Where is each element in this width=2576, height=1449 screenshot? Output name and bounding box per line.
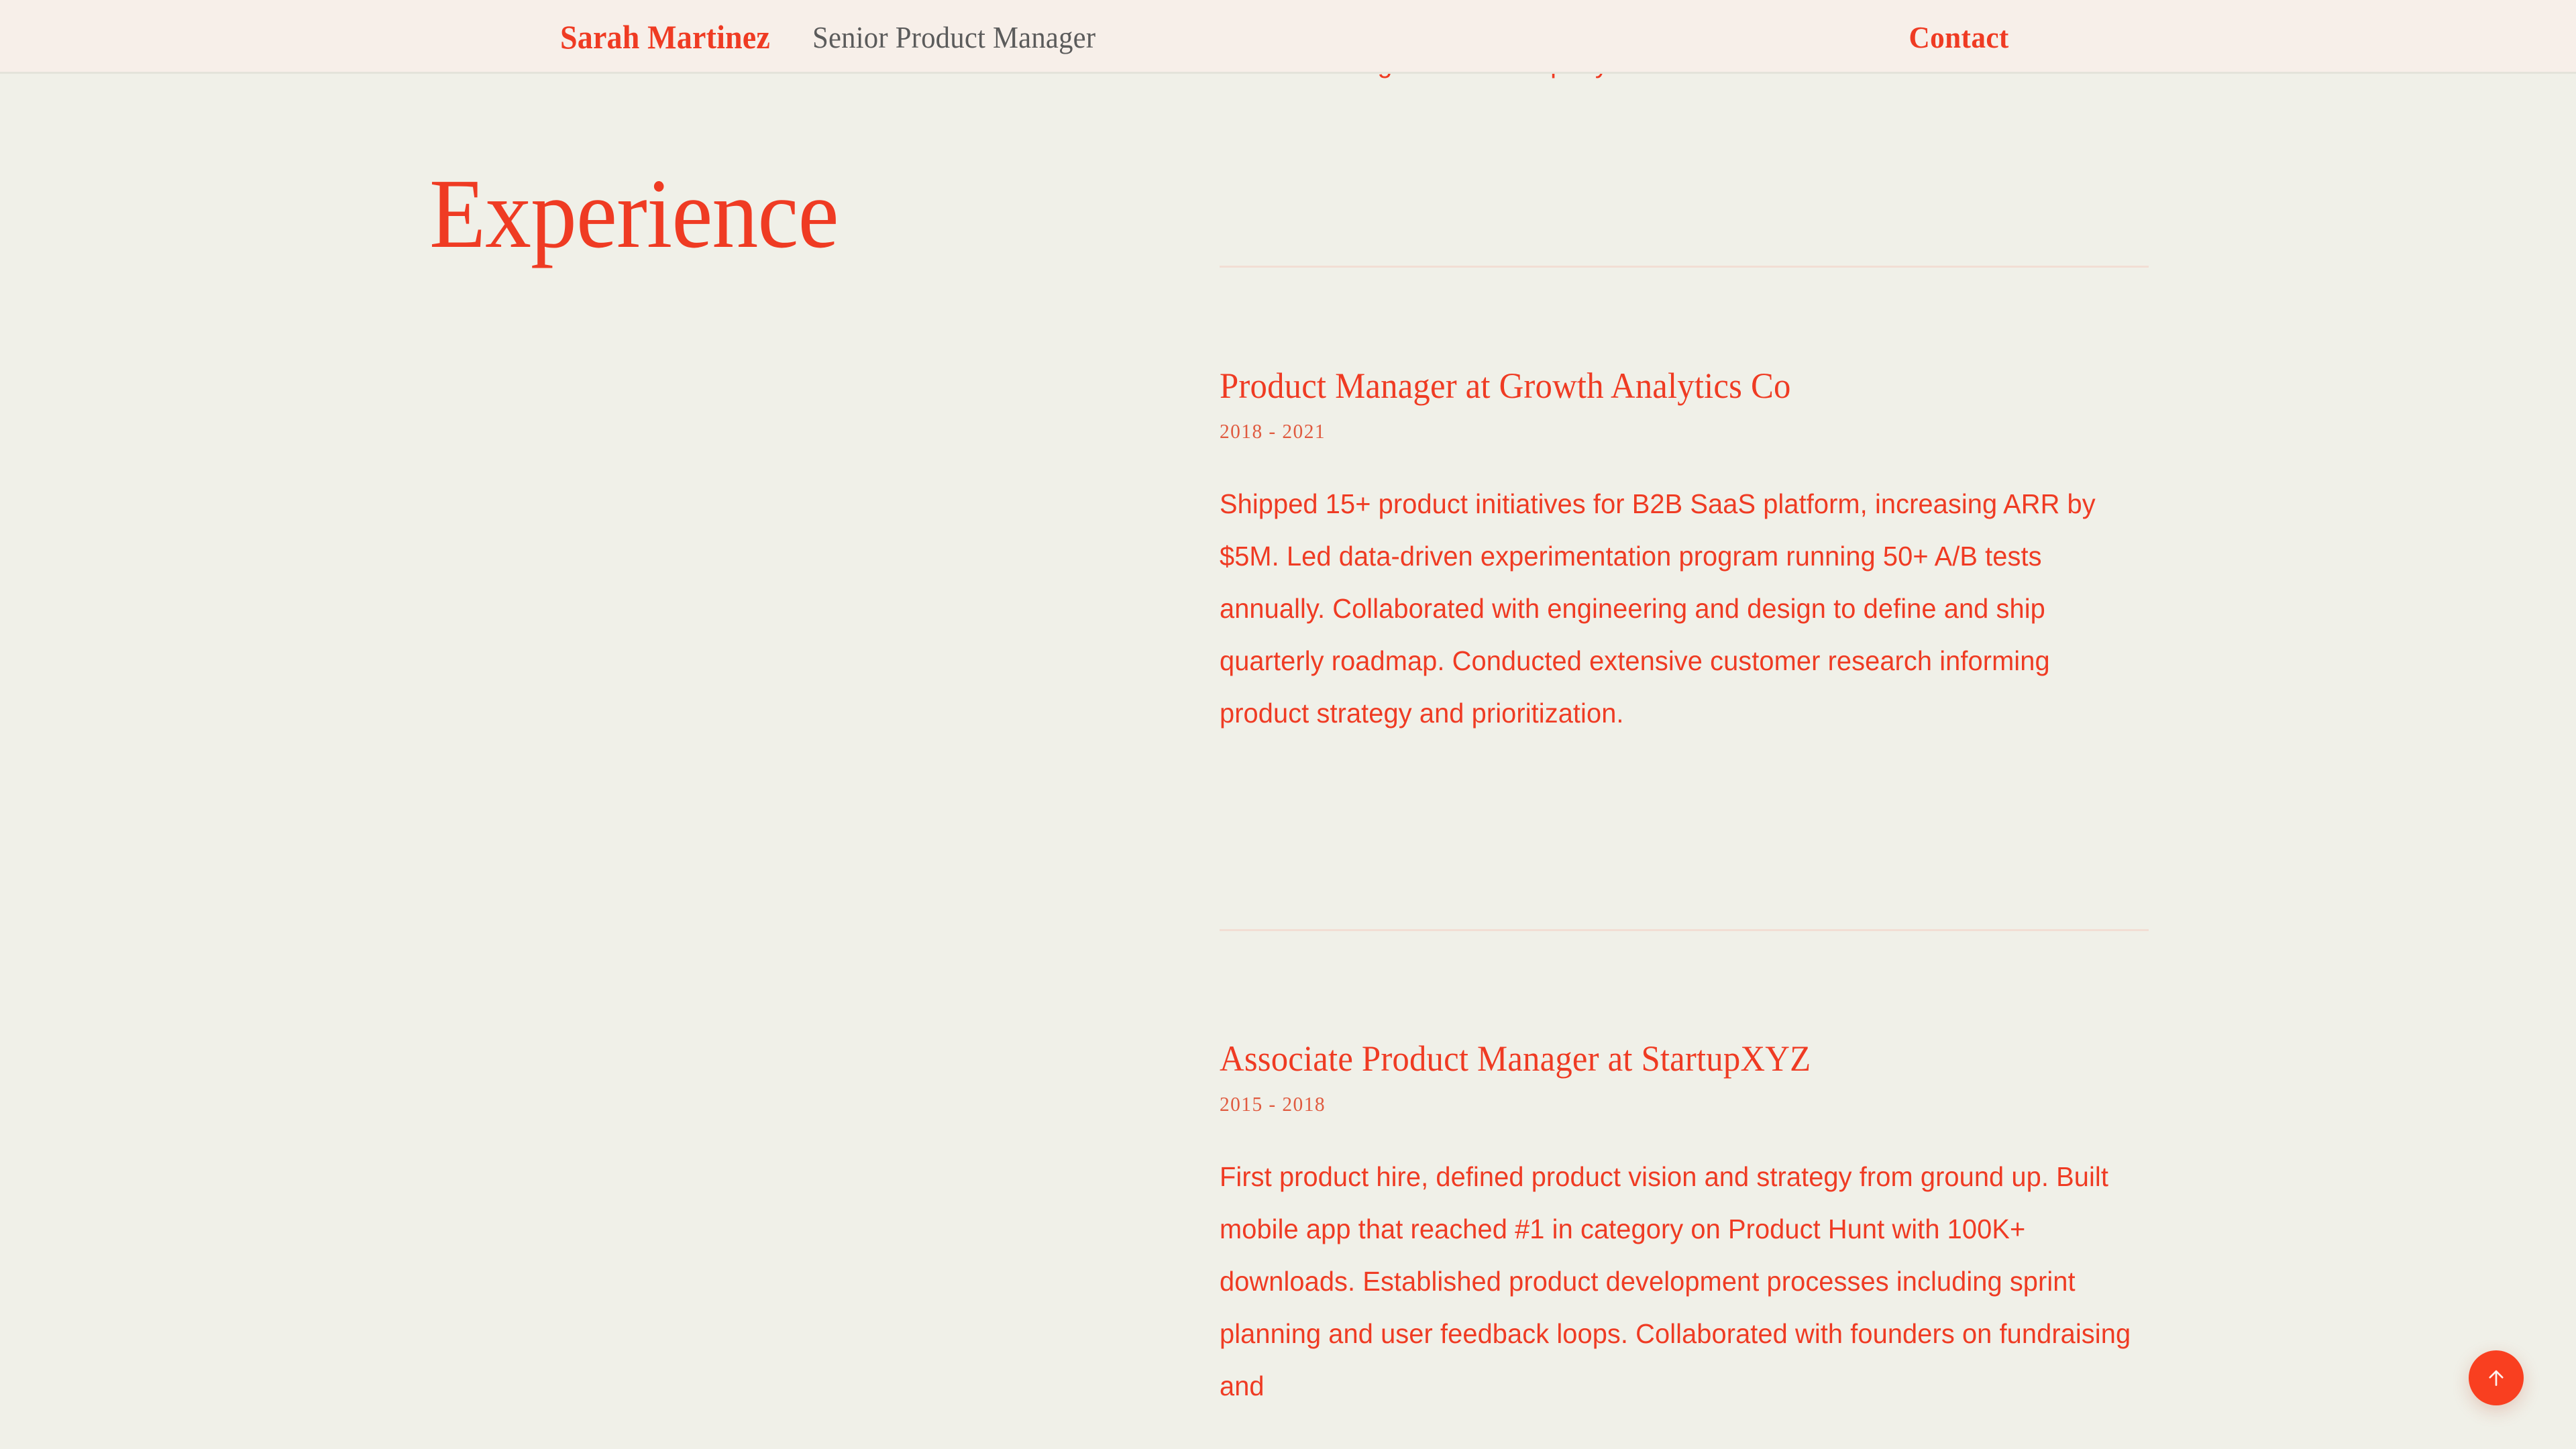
experience-description: Shipped 15+ product initiatives for B2B … [1220, 478, 2143, 739]
list-item: Product Manager at Growth Analytics Co 2… [1220, 366, 2152, 739]
experience-list: and OKRs aligned with company vision. Pr… [1220, 0, 2152, 1449]
experience-dates: 2015 - 2018 [1220, 1093, 2106, 1114]
brand-name[interactable]: Sarah Martinez [560, 17, 770, 56]
experience-dates: 2018 - 2021 [1220, 421, 2106, 441]
nav-link-contact[interactable]: Contact [1909, 19, 2009, 55]
arrow-up-icon [2485, 1366, 2508, 1389]
page-content: Experience and OKRs aligned with company… [0, 0, 2576, 1449]
experience-title: Associate Product Manager at StartupXYZ [1220, 1038, 2096, 1079]
page-title: Experience [429, 164, 839, 264]
brand-role: Senior Product Manager [812, 19, 1095, 55]
experience-description: First product hire, defined product visi… [1220, 1150, 2143, 1412]
experience-title: Product Manager at Growth Analytics Co [1220, 366, 2096, 406]
entry-divider [1220, 266, 2149, 268]
scroll-to-top-button[interactable] [2469, 1350, 2524, 1405]
list-item: Associate Product Manager at StartupXYZ … [1220, 1038, 2152, 1412]
site-header: Sarah Martinez Senior Product Manager Co… [0, 0, 2576, 74]
header-brand[interactable]: Sarah Martinez Senior Product Manager [560, 0, 1117, 74]
entry-divider [1220, 929, 2149, 931]
header-nav: Contact [1902, 0, 2576, 74]
